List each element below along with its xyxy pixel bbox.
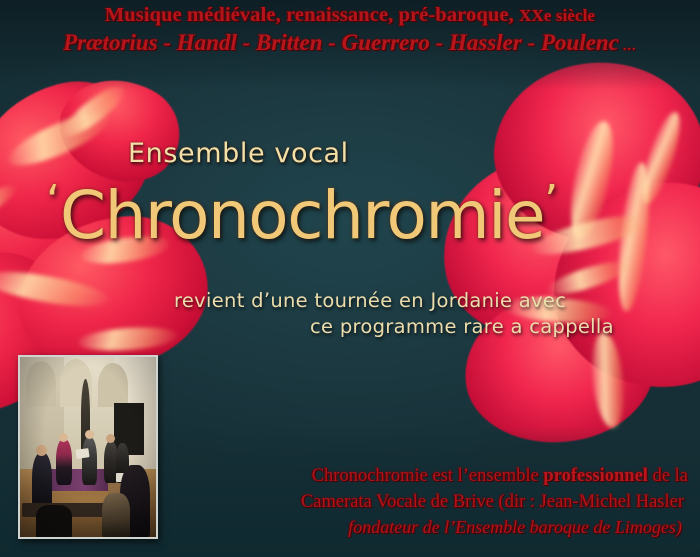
poster-title: ‘Chronochromie’ xyxy=(46,176,558,254)
footer-line-1-before: Chronochromie est l’ensemble xyxy=(312,466,544,486)
headline-composers: Prætorius - Handl - Britten - Guerrero -… xyxy=(0,30,700,56)
footer-line-2: Camerata Vocale de Brive (dir : Jean-Mic… xyxy=(0,489,692,515)
footer-credits: Chronochromie est l’ensemble professionn… xyxy=(0,463,700,541)
headline-block: Musique médiévale, renaissance, pré-baro… xyxy=(0,4,700,56)
ensemble-kicker: Ensemble vocal xyxy=(128,138,349,169)
concert-poster: Musique médiévale, renaissance, pré-baro… xyxy=(0,0,700,557)
headline-repertoire-main: Musique médiévale, renaissance, pré-baro… xyxy=(105,4,519,26)
footer-line-3: fondateur de l’Ensemble baroque de Limog… xyxy=(0,515,692,541)
headline-repertoire-century: XXe siècle xyxy=(519,6,595,25)
footer-line-1-after: de la xyxy=(648,466,688,486)
footer-line-1-emphasis: professionnel xyxy=(543,466,648,486)
title-open-quote: ‘ xyxy=(46,176,60,227)
tagline-line-1: revient d’une tournée en Jordanie avec xyxy=(174,289,566,312)
title-close-quote: ’ xyxy=(544,176,558,227)
text-layer: Musique médiévale, renaissance, pré-baro… xyxy=(0,0,700,557)
tagline-line-2: ce programme rare a cappella xyxy=(310,315,614,338)
headline-composers-names: Prætorius - Handl - Britten - Guerrero -… xyxy=(63,30,619,55)
footer-line-1: Chronochromie est l’ensemble professionn… xyxy=(0,463,692,489)
title-text: Chronochromie xyxy=(60,177,544,254)
headline-repertoire: Musique médiévale, renaissance, pré-baro… xyxy=(0,4,700,27)
headline-composers-ellipsis: ... xyxy=(619,39,637,54)
